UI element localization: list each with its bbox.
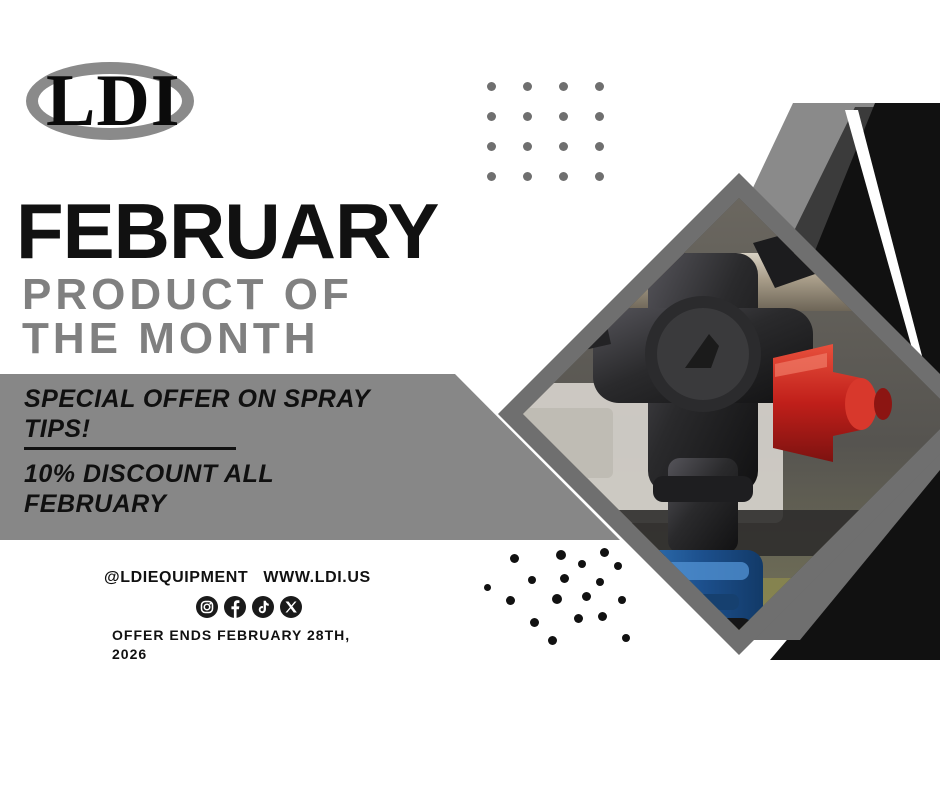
offer-divider (24, 447, 236, 450)
x-twitter-icon[interactable] (280, 596, 302, 618)
instagram-icon[interactable] (196, 596, 218, 618)
offer-headline: SPECIAL OFFER ON SPRAY TIPS! (24, 384, 424, 444)
social-links (196, 596, 302, 618)
poster-canvas: LDI FEBRUARY PRODUCT OF THE MONTH SPECIA… (0, 0, 940, 788)
logo-text: LDI (46, 68, 216, 134)
dot-grid-decoration (487, 82, 611, 182)
contact-line: @LDIEQUIPMENT WWW.LDI.US (104, 569, 371, 587)
scattered-dots-decoration (470, 548, 640, 666)
page-title: FEBRUARY (16, 192, 438, 270)
brand-logo: LDI (18, 48, 218, 152)
facebook-icon[interactable] (224, 596, 246, 618)
tiktok-icon[interactable] (252, 596, 274, 618)
subtitle-line-1: PRODUCT OF (22, 272, 353, 318)
subtitle-line-2: THE MONTH (22, 316, 320, 362)
offer-expiry: OFFER ENDS FEBRUARY 28TH, 2026 (112, 626, 382, 664)
offer-discount: 10% DISCOUNT ALL FEBRUARY (24, 459, 384, 519)
